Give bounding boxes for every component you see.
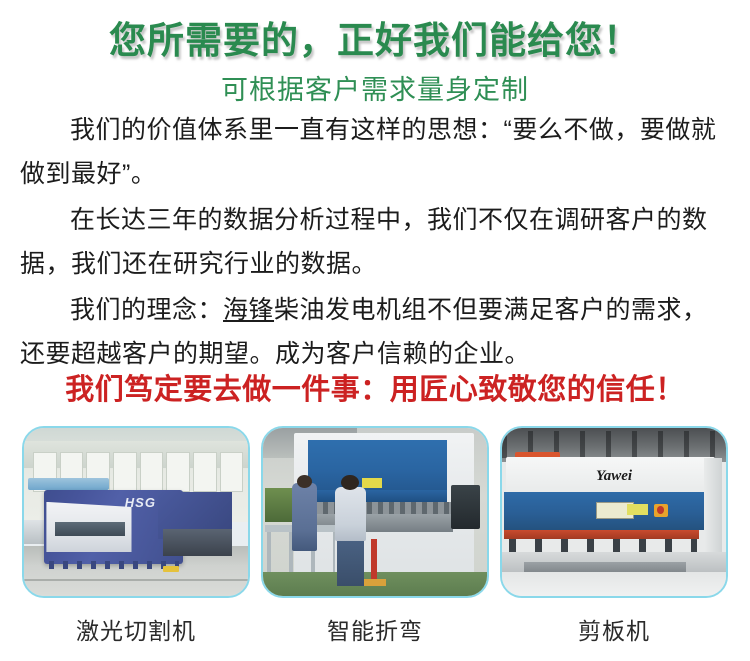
- equipment-photo-row: HSG: [0, 426, 750, 601]
- brand-name: 海锋: [223, 296, 274, 324]
- promo-banner: 您所需要的，正好我们能给您！ 可根据客户需求量身定制 我们的价值体系里一直有这样…: [0, 0, 750, 661]
- shear-floor: [502, 572, 726, 596]
- shear-label: [627, 504, 647, 516]
- material-stand-base: [364, 579, 386, 586]
- laser-machine-marker: [163, 566, 179, 573]
- caption-spacer-2: [489, 612, 500, 646]
- photo-press-brake: [261, 426, 489, 598]
- emergency-stop-button: [657, 506, 664, 514]
- caption-press-brake: 智能折弯: [261, 612, 489, 646]
- press-brake-control-unit: [451, 485, 480, 529]
- laser-machine-hood-shadow: [163, 529, 232, 556]
- worker-right-body: [335, 487, 366, 541]
- shear-red-guard: [504, 530, 699, 538]
- shear-hold-downs: [509, 539, 697, 552]
- laser-machine-panel: [55, 522, 124, 535]
- press-brake-warning-label: [362, 478, 382, 488]
- caption-laser-cutter: 激光切割机: [22, 612, 250, 646]
- machine-brand-logo: HSG: [125, 495, 156, 510]
- press-brake-blue-panel-lower: [308, 490, 447, 502]
- slogan-emphasis: 我们笃定要去做一件事：用匠心致敬您的信任！: [0, 366, 750, 408]
- press-brake-tooling: [306, 502, 454, 514]
- body-copy: 我们的价值体系里一直有这样的思想：“要么不做，要做就做到最好”。 在长达三年的数…: [20, 108, 732, 378]
- worker-left-body: [292, 483, 317, 550]
- photo-shearing-machine: Yawei: [500, 426, 728, 598]
- hall-banner: [28, 478, 109, 490]
- page-subtitle: 可根据客户需求量身定制: [0, 68, 750, 107]
- photo-shearing-machine-image: Yawei: [502, 428, 726, 596]
- photo-laser-cutter: HSG: [22, 426, 250, 598]
- caption-spacer-1: [250, 612, 261, 646]
- paragraph-philosophy: 我们的理念：海锋柴油发电机组不但要满足客户的需求，还要超越客户的期望。成为客户信…: [20, 288, 732, 376]
- paragraph-values: 我们的价值体系里一直有这样的思想：“要么不做，要做就做到最好”。: [20, 108, 732, 196]
- workshop-shelf: [265, 488, 292, 522]
- photo-laser-cutter-image: HSG: [24, 428, 248, 596]
- worker-right-legs: [337, 539, 364, 586]
- machine-brand-logo: Yawei: [596, 468, 632, 485]
- laser-machine-legs: [49, 561, 179, 569]
- shear-side-column: [704, 458, 722, 552]
- paragraph-research: 在长达三年的数据分析过程中，我们不仅在调研客户的数据，我们还在研究行业的数据。: [20, 198, 732, 286]
- philosophy-prefix: 我们的理念：: [70, 296, 223, 324]
- floor-line: [24, 579, 248, 581]
- caption-shearing-machine: 剪板机: [500, 612, 728, 646]
- page-title: 您所需要的，正好我们能给您！: [0, 10, 750, 64]
- photo-caption-row: 激光切割机 智能折弯 剪板机: [0, 612, 750, 646]
- material-stand: [371, 539, 378, 583]
- photo-press-brake-image: [263, 428, 487, 596]
